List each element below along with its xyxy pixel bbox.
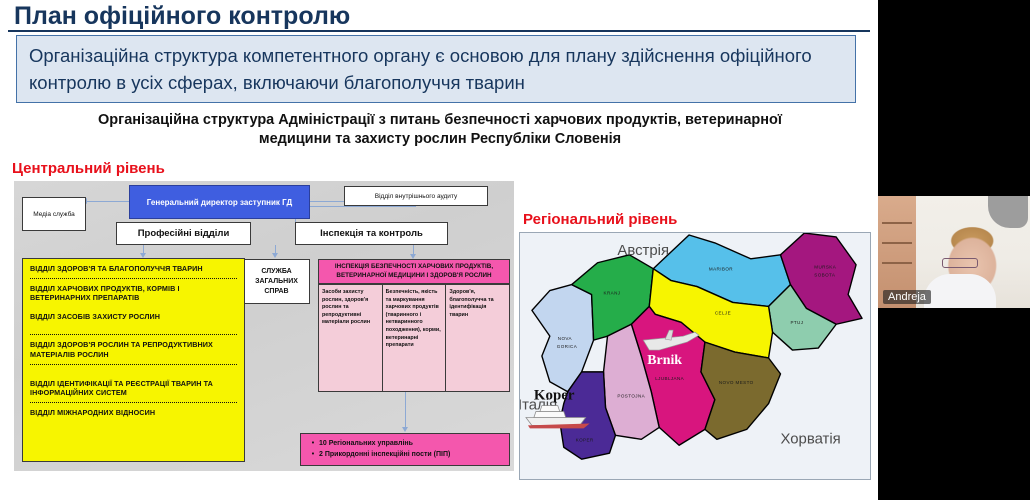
internal-audit-box: Відділ внутрішнього аудиту: [344, 186, 488, 206]
central-level-label: Центральний рівень: [12, 160, 165, 177]
common-affairs-box: СЛУЖБА ЗАГАЛЬНИХ СПРАВ: [243, 259, 310, 304]
inspection-column: Безпечність, якість та маркування харчов…: [383, 284, 447, 392]
region-label-celje: CELJE: [715, 310, 731, 315]
regional-note-text: 2 Прикордонні інспекційні пости (ПІП): [319, 449, 450, 460]
media-service-box: Медіа служба: [22, 197, 86, 231]
region-label-murska-sobota: MURSKA: [814, 265, 836, 270]
port-label-koper: Koper: [534, 388, 575, 404]
region-label-nova-gorica: NOVA: [558, 336, 573, 341]
neighbour-label-croatia: Хорватія: [781, 431, 841, 447]
professional-departments-box: Професійні відділи: [116, 222, 251, 245]
participant-body: [924, 274, 996, 308]
inspection-columns: Засоби захисту рослин, здоров'я рослин т…: [318, 284, 510, 392]
director-general-box: Генеральний директор заступник ГД: [129, 185, 310, 219]
page-title: План офіційного контролю: [14, 2, 350, 31]
neighbour-label-austria: Австрія: [617, 243, 669, 259]
department-item: ВІДДІЛ ЗДОРОВ'Я ТА БЛАГОПОЛУЧЧЯ ТВАРИН: [30, 264, 237, 274]
connector-dg-to-media: [86, 201, 129, 202]
meeting-screen: План офіційного контролю Організаційна с…: [0, 0, 1030, 500]
connector-dg-to-audit-h: [310, 201, 346, 202]
video-rail: Andreja: [878, 0, 1030, 500]
slovenia-regions-map: Австрія Угорщина Італія Хорватія NOVA GO…: [519, 232, 871, 480]
region-label-postojna: POSTOJNA: [617, 394, 645, 399]
inspection-column: Здоров'я, благополучча та ідентифікація …: [446, 284, 510, 392]
slide-canvas: План офіційного контролю Організаційна с…: [0, 0, 878, 486]
regional-level-label: Регіональний рівень: [523, 211, 677, 228]
region-label-kranj: KRANJ: [604, 291, 621, 296]
glasses-icon: [942, 258, 978, 268]
department-item: ВІДДІЛ ЗАСОБІВ ЗАХИСТУ РОСЛИН: [30, 312, 237, 322]
connector-audit-h2: [295, 206, 416, 207]
inspection-control-box: Інспекція та контроль: [295, 222, 448, 245]
connector-arrow-common: [272, 253, 278, 258]
slide-subtitle: Організаційна структура Адміністрації з …: [25, 111, 855, 149]
region-label-nova-gorica2: GORICA: [557, 344, 578, 349]
list-item: • 2 Прикордонні інспекційні пости (ПІП): [307, 449, 503, 460]
bullet-icon: •: [307, 449, 319, 460]
region-label-ptuj: PTUJ: [790, 320, 803, 325]
connector-arrow-bottom: [402, 427, 408, 432]
airport-label-brnik: Brnik: [647, 353, 682, 368]
inspection-header: ІНСПЕКЦІЯ БЕЗПЕЧНОСТІ ХАРЧОВИХ ПРОДУКТІВ…: [318, 259, 510, 284]
list-divider: [30, 402, 237, 403]
map-svg: Австрія Угорщина Італія Хорватія NOVA GO…: [520, 233, 870, 479]
department-item: ВІДДІЛ ЗДОРОВ'Я РОСЛИН ТА РЕПРОДУКТИВНИХ…: [30, 340, 237, 359]
region-label-ljubljana: LJUBLJANA: [655, 376, 684, 381]
list-divider: [30, 334, 237, 335]
region-label-maribor: MARIBOR: [709, 267, 733, 272]
regional-note-text: 10 Регіональних управлінь: [319, 438, 413, 449]
region-label-murska-sobota2: SOBOTA: [814, 273, 836, 278]
key-message-text: Організаційна структура компетентного ор…: [29, 42, 845, 96]
department-item: ВІДДІЛ МІЖНАРОДНИХ ВІДНОСИН: [30, 408, 237, 418]
departments-list: ВІДДІЛ ЗДОРОВ'Я ТА БЛАГОПОЛУЧЧЯ ТВАРИН В…: [22, 258, 245, 462]
connector-insp-bottom: [405, 392, 406, 428]
slide-subtitle-line-2: медицини та захисту рослин Республіки Сл…: [25, 130, 855, 149]
region-label-koper: KOPER: [576, 437, 594, 442]
department-item: ВІДДІЛ ХАРЧОВИХ ПРОДУКТІВ, КОРМІВ І ВЕТЕ…: [30, 284, 237, 303]
department-item: ВІДДІЛ ІДЕНТИФІКАЦІЇ ТА РЕЄСТРАЦІЇ ТВАРИ…: [30, 379, 237, 398]
list-spacer: [30, 370, 237, 379]
participant-name-label: Andreja: [883, 290, 931, 304]
list-divider: [30, 364, 237, 365]
bullet-icon: •: [307, 438, 319, 449]
list-spacer: [30, 303, 237, 312]
shared-slide: План офіційного контролю Організаційна с…: [0, 0, 878, 500]
list-divider: [30, 278, 237, 279]
region-label-novo-mesto: NOVO MESTO: [719, 380, 754, 385]
title-divider: [8, 30, 870, 32]
video-tile-andreja[interactable]: Andreja: [878, 196, 1030, 308]
list-item: • 10 Регіональних управлінь: [307, 438, 503, 449]
regional-notes-box: • 10 Регіональних управлінь • 2 Прикордо…: [300, 433, 510, 466]
org-chart: Медіа служба Генеральний директор заступ…: [14, 181, 514, 471]
inspection-column: Засоби захисту рослин, здоров'я рослин т…: [318, 284, 383, 392]
key-message-banner: Організаційна структура компетентного ор…: [16, 35, 856, 103]
slide-subtitle-line-1: Організаційна структура Адміністрації з …: [25, 111, 855, 130]
list-spacer: [30, 321, 237, 330]
